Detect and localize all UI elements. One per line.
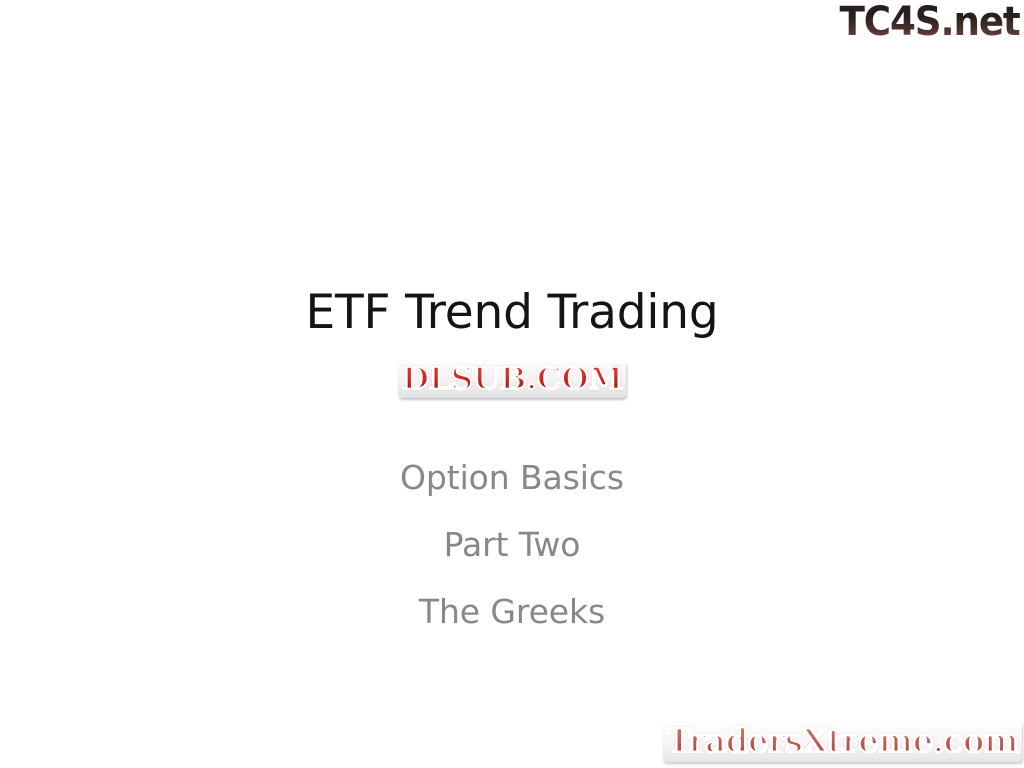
slide-subtitle-line-1: Option Basics [0, 444, 1024, 511]
tradersxtreme-logo-plate: TradersXtreme.com [663, 722, 1022, 762]
dlsub-watermark-plate: DLSUB.COM [398, 362, 627, 398]
presentation-slide: TC4S.net ETF Trend Trading DLSUB.COM Opt… [0, 0, 1024, 768]
slide-subtitle-line-2: Part Two [0, 511, 1024, 578]
tradersxtreme-logo-text: TradersXtreme.com [667, 723, 1018, 760]
tc4s-logo-text: TC4S.net [840, 2, 1020, 42]
slide-subtitle-line-3: The Greeks [0, 578, 1024, 645]
slide-subtitle: Option Basics Part Two The Greeks [0, 444, 1024, 645]
slide-title: ETF Trend Trading [0, 288, 1024, 339]
dlsub-watermark: DLSUB.COM [0, 362, 1024, 398]
tc4s-logo: TC4S.net [826, 2, 1020, 42]
tradersxtreme-logo: TradersXtreme.com [663, 722, 1022, 762]
dlsub-watermark-text: DLSUB.COM [402, 364, 623, 395]
slide-title-text: ETF Trend Trading [306, 288, 719, 339]
